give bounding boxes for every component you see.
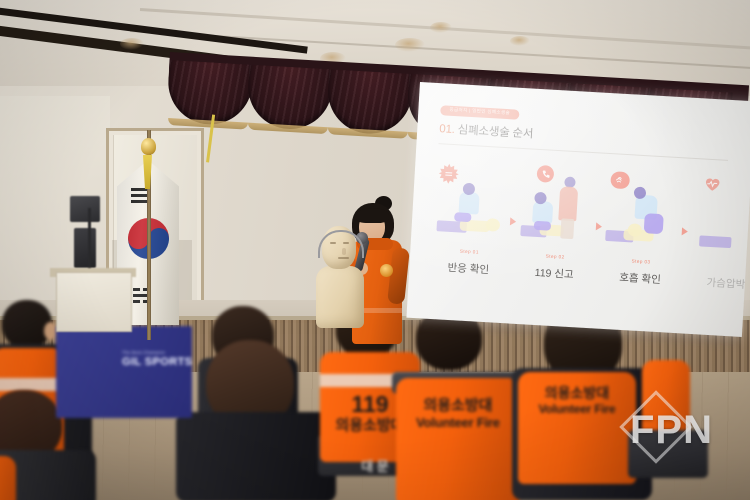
valance-scallop xyxy=(326,69,413,136)
projection-screen: 응급처치 | 일반인 심폐소생술 01. 심폐소생술 순서 xyxy=(406,82,750,337)
vest-reflective-stripe xyxy=(0,378,64,391)
rescuer-leg xyxy=(644,213,664,234)
step-label: 119 신고 xyxy=(517,264,592,283)
vest-text: 의용소방대 Volunteer Fire xyxy=(396,398,520,430)
speaker-body xyxy=(74,228,96,268)
rescuer-leg xyxy=(454,212,471,222)
vest-korean: 의용소방대 xyxy=(423,397,492,414)
banner-cloth xyxy=(56,326,192,418)
step-illustration xyxy=(433,157,512,245)
vest-korean: 의용소방대 xyxy=(545,385,609,401)
step-label: 가슴압박 xyxy=(689,274,750,293)
banner-tagline: The Best Champion xyxy=(122,350,165,355)
instructor-shoulder-patch xyxy=(380,264,393,277)
rescuer-leg xyxy=(534,221,551,231)
attendee-head xyxy=(2,300,52,348)
phone-call-icon xyxy=(536,165,554,183)
step-arrow-icon xyxy=(596,222,602,230)
ceiling-water-stain-3 xyxy=(395,38,425,52)
vest-number: 119 xyxy=(351,391,388,417)
attendee-vest xyxy=(0,456,16,500)
jacket-korean-partial: 대 문 xyxy=(361,459,389,474)
slide-step: Step 01 반응 확인 xyxy=(430,157,511,293)
ceiling-water-stain-5 xyxy=(510,36,530,46)
step-arrow-icon xyxy=(510,217,516,225)
vest-english: Volunteer Fire xyxy=(396,416,520,430)
manikin-torso xyxy=(316,266,364,328)
bystander-body xyxy=(558,186,578,221)
banner-brand: GIL SPORTS xyxy=(122,356,192,368)
training-session-photo: 응급처치 | 일반인 심폐소생술 01. 심폐소생술 순서 xyxy=(0,0,750,500)
slide-badge: 응급처치 | 일반인 심폐소생술 xyxy=(440,105,519,119)
watermark-text: FPN xyxy=(630,410,713,450)
speaker-top xyxy=(70,196,100,222)
breath-icon xyxy=(610,171,630,189)
heartbeat-icon xyxy=(702,174,723,193)
ceiling-water-stain-4 xyxy=(430,22,452,33)
instructor-bangs xyxy=(356,208,389,223)
slide-title: 01. 심폐소생술 순서 xyxy=(439,120,750,154)
step-kicker: Step 01 xyxy=(432,247,506,256)
step-mat xyxy=(699,235,732,248)
slide-step: Step 04 가슴압박 xyxy=(688,172,750,308)
valance-scallop xyxy=(246,65,333,132)
ceiling-water-stain-1 xyxy=(120,38,144,50)
vest-korean: 의용소방대 xyxy=(335,417,404,434)
step-arrow-icon xyxy=(682,227,688,235)
slide-title-number: 01. xyxy=(439,123,455,136)
step-illustration xyxy=(690,172,750,260)
slide-step: Step 03 호흡 확인 xyxy=(602,167,683,303)
step-kicker: Step 03 xyxy=(604,257,678,266)
watermark: FPN xyxy=(614,404,734,462)
step-label: 반응 확인 xyxy=(431,259,506,278)
step-illustration xyxy=(605,167,684,255)
slide-step: Step 02 119 신고 xyxy=(516,162,597,298)
valance-scallop xyxy=(166,60,253,127)
victim-head xyxy=(486,218,501,232)
step-label: 호흡 확인 xyxy=(603,269,678,288)
shout-starburst-icon xyxy=(438,163,459,184)
attendee-jacket xyxy=(176,412,336,500)
step-kicker: Step 02 xyxy=(518,252,592,261)
step-illustration xyxy=(519,162,598,250)
bystander-legs xyxy=(560,218,574,239)
slide-title-text: 심폐소생술 순서 xyxy=(457,124,533,140)
lectern xyxy=(56,272,132,332)
slide-steps-row: Step 01 반응 확인 xyxy=(430,157,747,307)
flagpole-finial-icon xyxy=(141,138,156,155)
